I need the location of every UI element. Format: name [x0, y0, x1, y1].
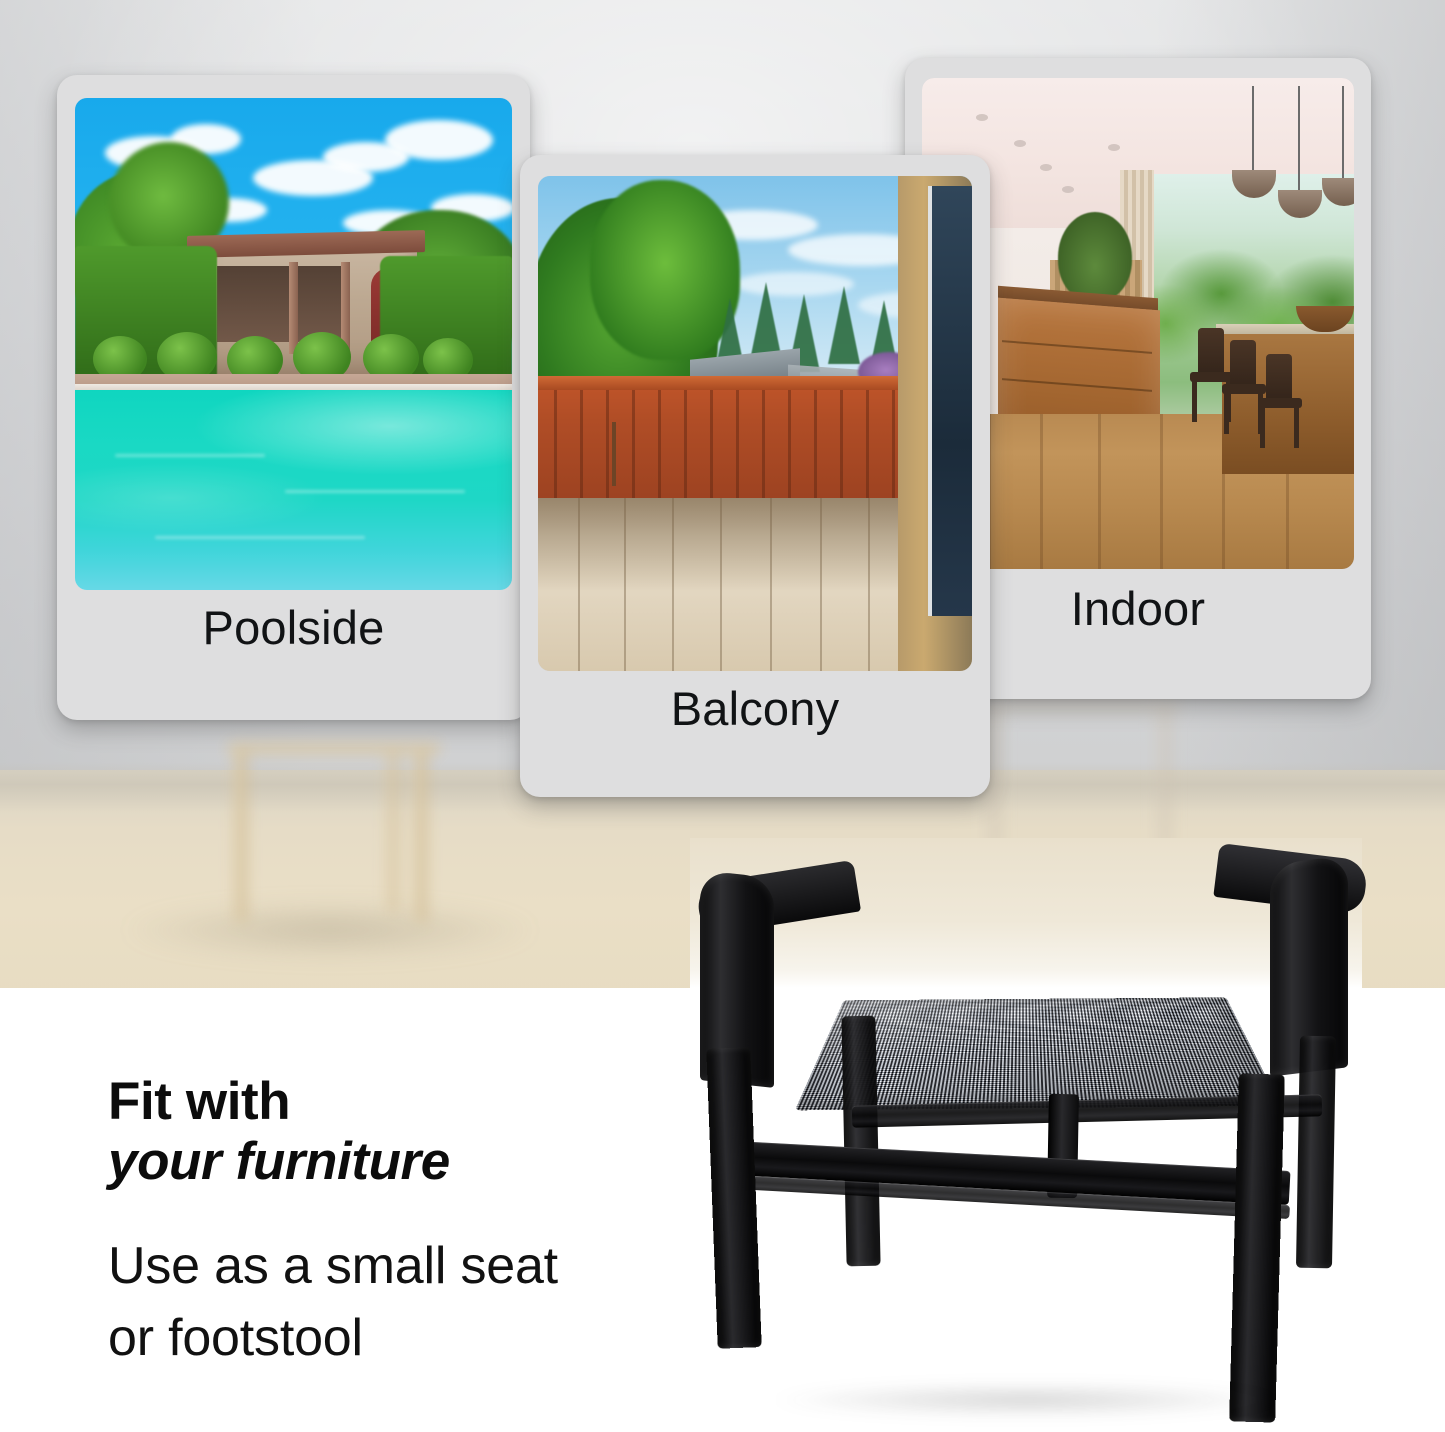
water-ripple [115, 454, 265, 457]
pendant-cord [1342, 86, 1344, 178]
downlight-icon [1108, 144, 1120, 151]
leg-back-right [1296, 1036, 1336, 1269]
product-ottoman [676, 838, 1376, 1432]
water-ripple [155, 536, 365, 539]
scene-card-label-poolside: Poolside [57, 600, 530, 655]
backdrop-wooden-table [228, 742, 440, 922]
scene-card-poolside[interactable]: Poolside [57, 75, 530, 720]
promo-headline: Fit with your furniture [108, 1072, 748, 1192]
sliding-door-glass [928, 186, 972, 616]
downlight-icon [1062, 186, 1074, 193]
downlight-icon [1014, 140, 1026, 147]
downlight-icon [976, 114, 988, 121]
downlight-icon [1040, 164, 1052, 171]
promo-subcopy-line2: or footstool [108, 1302, 748, 1374]
promo-headline-line1: Fit with [108, 1072, 290, 1131]
leg-front-right [1229, 1073, 1285, 1422]
railing-post [612, 422, 616, 486]
scene-card-balcony[interactable]: Balcony [520, 155, 990, 797]
porch-column [289, 262, 298, 354]
fir-tree [828, 286, 860, 364]
dining-chair [1258, 354, 1302, 446]
promo-copy-block: Fit with your furniture Use as a small s… [108, 1072, 748, 1374]
fir-tree [750, 282, 782, 360]
potted-plant [1058, 212, 1132, 302]
floor-plank-seam [1160, 414, 1163, 569]
product-marketing-image: Poolside [0, 0, 1445, 1432]
leg-back-left [841, 1016, 880, 1267]
promo-headline-line2: your furniture [108, 1132, 748, 1192]
pendant-cord [1252, 86, 1254, 170]
water-ripple [285, 490, 465, 493]
pool-house-porch-shade [217, 266, 347, 342]
poolside-photo [75, 98, 512, 590]
promo-subcopy: Use as a small seat or footstool [108, 1230, 748, 1374]
balcony-photo [538, 176, 972, 671]
scene-card-label-balcony: Balcony [520, 681, 990, 736]
cloud-icon [385, 120, 493, 160]
floor-plank-seam [1040, 414, 1043, 569]
floor-plank-seam [1098, 414, 1101, 569]
pendant-cord [1298, 86, 1300, 190]
promo-subcopy-line1: Use as a small seat [108, 1230, 748, 1302]
product-contact-shadow [766, 1383, 1286, 1417]
